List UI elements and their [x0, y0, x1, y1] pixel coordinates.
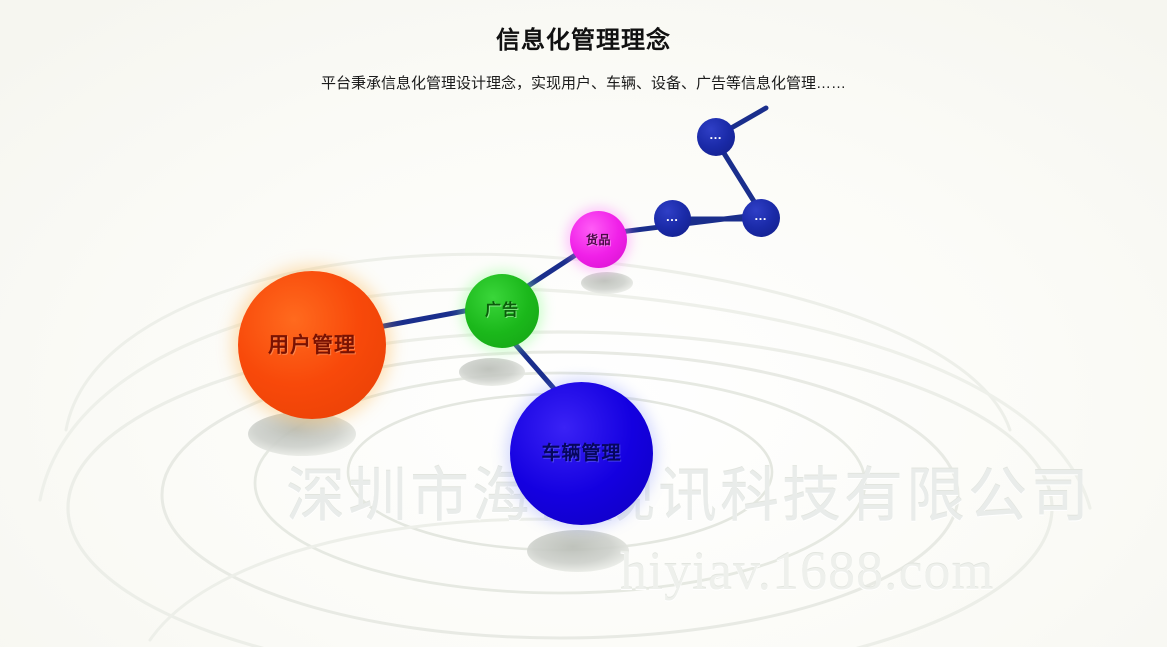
node-vehicle-management-label: 车辆管理 [541, 444, 621, 463]
slide-canvas: 深圳市海伊视讯科技有限公司 hiyiav.1688.com 用户管理 车辆管理 … [0, 0, 1167, 647]
node-placeholder-b[interactable]: … [654, 200, 691, 237]
node-placeholder-a[interactable]: … [697, 118, 735, 156]
diagram-nodes: 用户管理 车辆管理 广告 货品 … … … [0, 0, 1167, 647]
node-user-management-label: 用户管理 [268, 335, 356, 356]
node-goods-label: 货品 [586, 234, 611, 246]
page-title: 信息化管理理念 [0, 20, 1167, 55]
node-placeholder-a-label: … [709, 128, 723, 141]
node-placeholder-b-label: … [666, 210, 680, 223]
node-placeholder-c-label: … [754, 209, 768, 222]
node-user-management[interactable]: 用户管理 [238, 271, 386, 419]
node-goods[interactable]: 货品 [570, 211, 627, 268]
page-subtitle: 平台秉承信息化管理设计理念，实现用户、车辆、设备、广告等信息化管理…… [0, 72, 1167, 93]
node-advertising[interactable]: 广告 [465, 274, 539, 348]
node-placeholder-c[interactable]: … [742, 199, 780, 237]
node-vehicle-management[interactable]: 车辆管理 [510, 382, 653, 525]
node-advertising-label: 广告 [485, 303, 519, 319]
